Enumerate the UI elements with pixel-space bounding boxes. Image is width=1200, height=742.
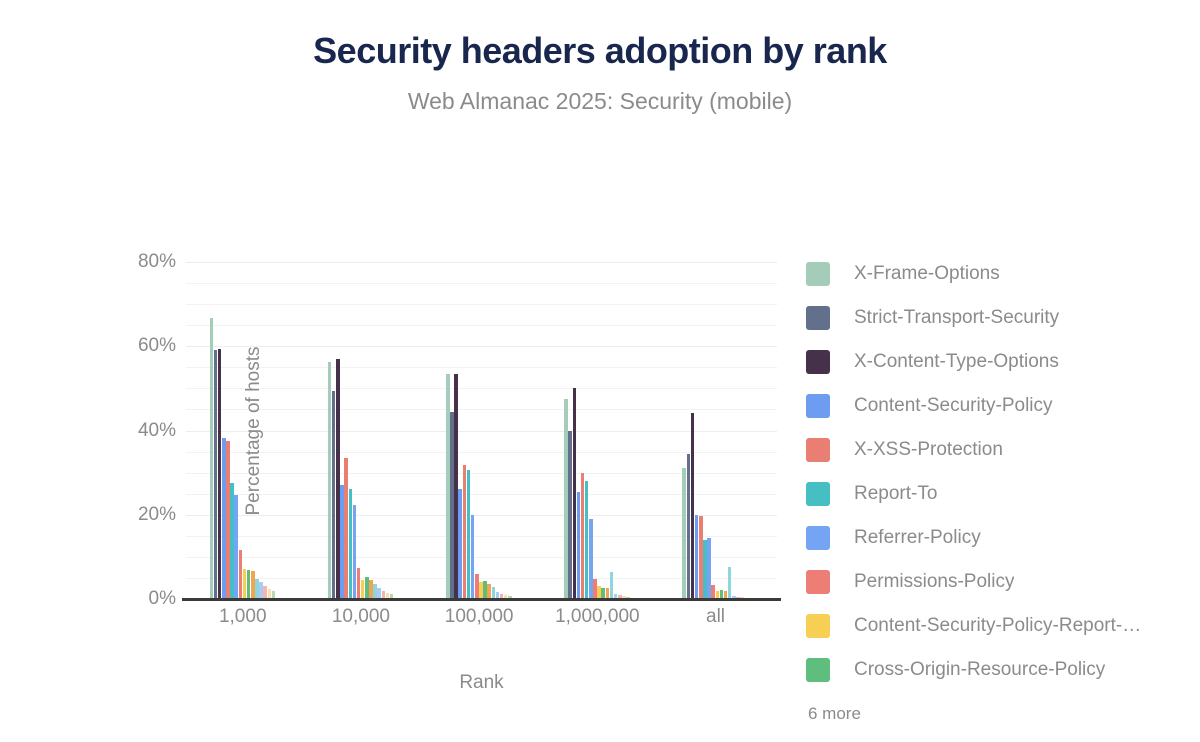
bar-group bbox=[659, 262, 777, 599]
legend-item[interactable]: Content-Security-Policy bbox=[806, 384, 1186, 428]
bar[interactable] bbox=[450, 412, 454, 599]
y-axis-tick-label: 60% bbox=[102, 335, 176, 357]
bar[interactable] bbox=[222, 438, 226, 599]
bar[interactable] bbox=[251, 571, 255, 599]
legend-item-label: X-Content-Type-Options bbox=[854, 351, 1059, 373]
bar[interactable] bbox=[695, 515, 699, 599]
bar[interactable] bbox=[467, 470, 471, 599]
legend-item-label: Report-To bbox=[854, 483, 937, 505]
bar[interactable] bbox=[463, 465, 467, 599]
bar[interactable] bbox=[573, 388, 577, 599]
legend-item-label: X-XSS-Protection bbox=[854, 439, 1003, 461]
bar[interactable] bbox=[454, 374, 458, 599]
bar[interactable] bbox=[243, 569, 247, 599]
bar[interactable] bbox=[361, 580, 365, 599]
legend-more-label[interactable]: 6 more bbox=[808, 704, 1186, 724]
bar[interactable] bbox=[234, 495, 238, 599]
bar[interactable] bbox=[239, 550, 243, 599]
legend-swatch-icon bbox=[806, 306, 830, 330]
bar[interactable] bbox=[564, 399, 568, 599]
x-axis-tick-label: 100,000 bbox=[445, 606, 514, 628]
bar[interactable] bbox=[568, 431, 572, 600]
legend-swatch-icon bbox=[806, 526, 830, 550]
legend-swatch-icon bbox=[806, 394, 830, 418]
y-axis-tick-label: 20% bbox=[102, 504, 176, 526]
bar[interactable] bbox=[487, 584, 491, 599]
bar[interactable] bbox=[707, 538, 711, 600]
legend-item[interactable]: Content-Security-Policy-Report-… bbox=[806, 604, 1186, 648]
legend-item[interactable]: Strict-Transport-Security bbox=[806, 296, 1186, 340]
y-axis-label: Percentage of hosts bbox=[243, 301, 265, 561]
y-axis-tick-label: 0% bbox=[102, 588, 176, 610]
legend-swatch-icon bbox=[806, 438, 830, 462]
legend-swatch-icon bbox=[806, 614, 830, 638]
bar[interactable] bbox=[703, 540, 707, 599]
legend-swatch-icon bbox=[806, 570, 830, 594]
bar[interactable] bbox=[711, 585, 715, 599]
legend-item[interactable]: Cross-Origin-Resource-Policy bbox=[806, 648, 1186, 692]
x-axis-line bbox=[182, 598, 781, 601]
bar[interactable] bbox=[255, 579, 259, 599]
legend-item-label: Content-Security-Policy-Report-… bbox=[854, 615, 1141, 637]
bar-group bbox=[541, 262, 659, 599]
bar[interactable] bbox=[210, 318, 214, 599]
bar[interactable] bbox=[597, 586, 601, 599]
bar[interactable] bbox=[585, 481, 589, 599]
x-axis-tick-label: 1,000,000 bbox=[555, 606, 640, 628]
x-axis-tick-label: 10,000 bbox=[332, 606, 390, 628]
bar[interactable] bbox=[471, 515, 475, 599]
legend-item[interactable]: Report-To bbox=[806, 472, 1186, 516]
bar[interactable] bbox=[340, 485, 344, 599]
bar[interactable] bbox=[214, 350, 218, 599]
bar[interactable] bbox=[446, 374, 450, 599]
bar[interactable] bbox=[691, 413, 695, 599]
bar[interactable] bbox=[581, 473, 585, 599]
legend-swatch-icon bbox=[806, 262, 830, 286]
legend-swatch-icon bbox=[806, 350, 830, 374]
y-axis-tick-label: 80% bbox=[102, 251, 176, 273]
chart-container: Security headers adoption by rank Web Al… bbox=[0, 0, 1200, 742]
x-axis-ticks: 1,00010,000100,0001,000,000all bbox=[186, 606, 777, 640]
bar[interactable] bbox=[328, 362, 332, 599]
bar[interactable] bbox=[577, 492, 581, 599]
bar[interactable] bbox=[332, 391, 336, 599]
x-axis-label: Rank bbox=[186, 672, 777, 694]
y-axis-ticks: 0%20%40%60%80% bbox=[100, 262, 176, 599]
legend-item-label: X-Frame-Options bbox=[854, 263, 1000, 285]
bar[interactable] bbox=[259, 582, 263, 599]
bar-group bbox=[422, 262, 540, 599]
legend-swatch-icon bbox=[806, 482, 830, 506]
chart-legend: X-Frame-OptionsStrict-Transport-Security… bbox=[806, 252, 1186, 724]
legend-items: X-Frame-OptionsStrict-Transport-Security… bbox=[806, 252, 1186, 692]
legend-swatch-icon bbox=[806, 658, 830, 682]
bar[interactable] bbox=[682, 468, 686, 599]
legend-item[interactable]: Referrer-Policy bbox=[806, 516, 1186, 560]
legend-item[interactable]: X-Frame-Options bbox=[806, 252, 1186, 296]
bar[interactable] bbox=[357, 568, 361, 599]
y-axis-tick-label: 40% bbox=[102, 420, 176, 442]
bar[interactable] bbox=[344, 458, 348, 599]
bar[interactable] bbox=[247, 570, 251, 599]
bar[interactable] bbox=[369, 580, 373, 599]
legend-item[interactable]: Permissions-Policy bbox=[806, 560, 1186, 604]
bar[interactable] bbox=[475, 574, 479, 599]
bar[interactable] bbox=[226, 441, 230, 599]
bar[interactable] bbox=[483, 581, 487, 599]
bar[interactable] bbox=[336, 359, 340, 599]
legend-item-label: Strict-Transport-Security bbox=[854, 307, 1059, 329]
bar[interactable] bbox=[687, 454, 691, 599]
legend-item[interactable]: X-Content-Type-Options bbox=[806, 340, 1186, 384]
bar[interactable] bbox=[365, 577, 369, 599]
bar[interactable] bbox=[699, 516, 703, 599]
legend-item-label: Content-Security-Policy bbox=[854, 395, 1053, 417]
bar[interactable] bbox=[589, 519, 593, 599]
bar[interactable] bbox=[610, 572, 614, 599]
x-axis-tick-label: all bbox=[706, 606, 725, 628]
chart-title: Security headers adoption by rank bbox=[0, 30, 1200, 72]
bar[interactable] bbox=[593, 579, 597, 599]
legend-item[interactable]: X-XSS-Protection bbox=[806, 428, 1186, 472]
x-axis-tick-label: 1,000 bbox=[219, 606, 267, 628]
bar[interactable] bbox=[230, 483, 234, 599]
bar[interactable] bbox=[458, 489, 462, 599]
plot-area: Percentage of hosts bbox=[186, 262, 777, 599]
legend-item-label: Referrer-Policy bbox=[854, 527, 981, 549]
bar[interactable] bbox=[728, 567, 732, 599]
bar[interactable] bbox=[479, 582, 483, 599]
bar[interactable] bbox=[373, 584, 377, 599]
bar-group bbox=[304, 262, 422, 599]
legend-item-label: Permissions-Policy bbox=[854, 571, 1014, 593]
bar[interactable] bbox=[218, 349, 222, 599]
chart-subtitle: Web Almanac 2025: Security (mobile) bbox=[0, 88, 1200, 115]
bar[interactable] bbox=[353, 505, 357, 599]
legend-item-label: Cross-Origin-Resource-Policy bbox=[854, 659, 1105, 681]
bar[interactable] bbox=[349, 489, 353, 599]
